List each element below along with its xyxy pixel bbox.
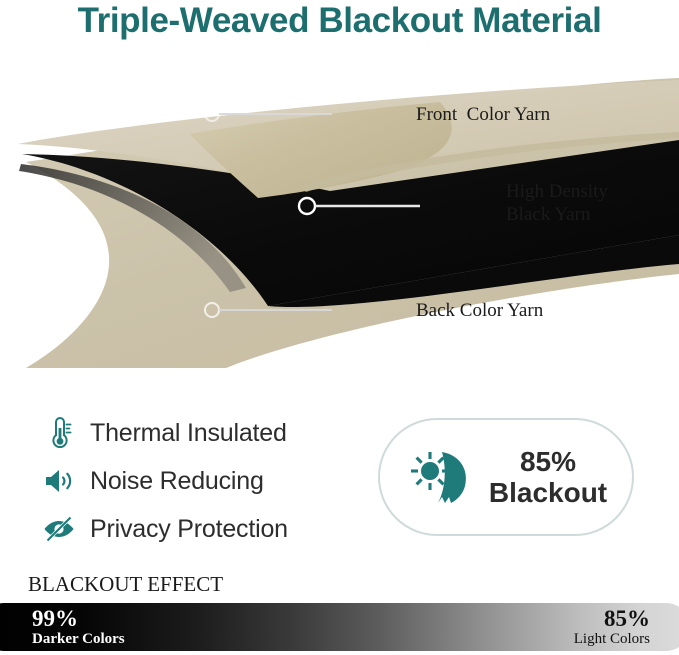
- bar-right-caption: Light Colors: [574, 631, 650, 648]
- feature-item-privacy-protection: Privacy Protection: [42, 508, 372, 550]
- blackout-percentage-badge: 85% Blackout: [378, 418, 634, 536]
- blackout-effect-gradient-bar: 99% Darker Colors 85% Light Colors: [0, 603, 679, 651]
- callout-label-back-color-yarn: Back Color Yarn: [416, 299, 543, 322]
- feature-item-noise-reducing: Noise Reducing: [42, 460, 372, 502]
- feature-label: Privacy Protection: [90, 515, 288, 544]
- callout-label-front-color-yarn: Front Color Yarn: [416, 103, 550, 126]
- bar-right-percent: 85%: [574, 607, 650, 631]
- badge-percent: 85%: [489, 446, 607, 477]
- sun-behind-curtain-icon: [405, 446, 479, 508]
- feature-label: Noise Reducing: [90, 467, 264, 496]
- bar-left-value-group: 99% Darker Colors: [32, 607, 125, 648]
- feature-item-thermal-insulated: Thermal Insulated: [42, 412, 372, 454]
- blackout-effect-heading: BLACKOUT EFFECT: [28, 572, 223, 597]
- bar-right-value-group: 85% Light Colors: [574, 607, 650, 648]
- speaker-sound-icon: [42, 464, 76, 498]
- bar-left-caption: Darker Colors: [32, 631, 125, 648]
- bar-left-percent: 99%: [32, 607, 125, 631]
- thermometer-icon: [42, 416, 76, 450]
- feature-list: Thermal Insulated Noise Reducing Privacy…: [42, 412, 372, 556]
- page-title: Triple-Weaved Blackout Material: [0, 1, 679, 41]
- eye-slash-icon: [42, 512, 76, 546]
- callout-label-high-density-black-yarn: High Density Black Yarn: [506, 180, 608, 226]
- badge-word: Blackout: [489, 477, 607, 508]
- feature-label: Thermal Insulated: [90, 419, 287, 448]
- badge-text-block: 85% Blackout: [489, 446, 607, 508]
